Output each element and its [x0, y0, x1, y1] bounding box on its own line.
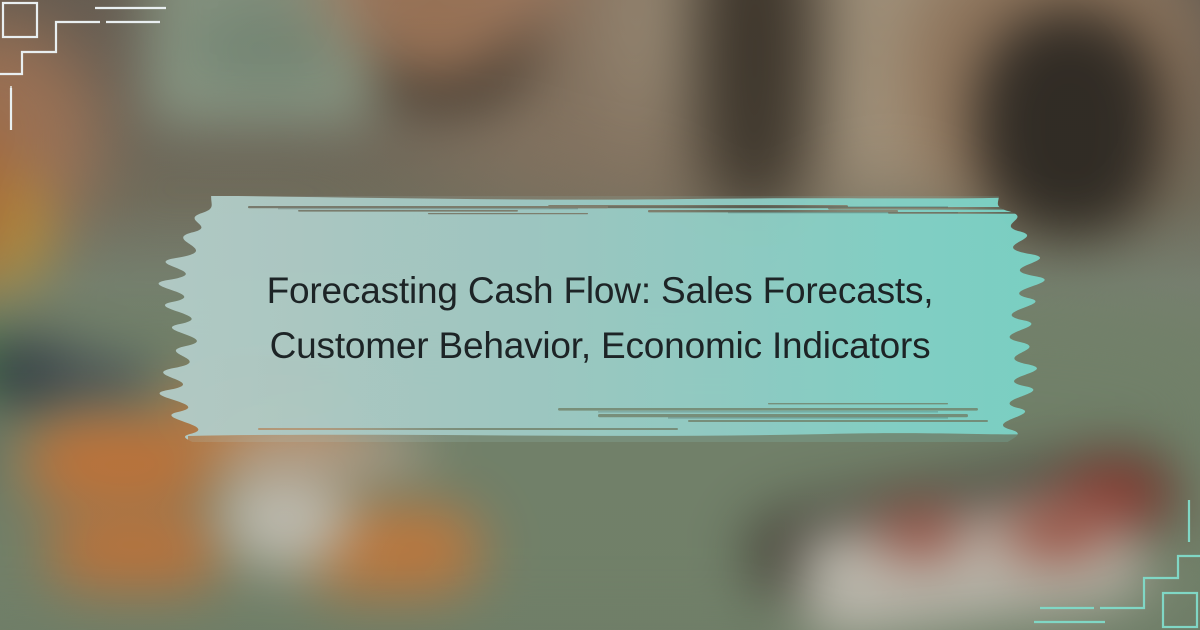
corner-ornament-top-left [0, 0, 170, 130]
title-line-1: Forecasting Cash Flow: Sales Forecasts, [267, 264, 934, 319]
title-line-2: Customer Behavior, Economic Indicators [270, 319, 931, 374]
social-card-canvas: Forecasting Cash Flow: Sales Forecasts, … [0, 0, 1200, 630]
page-title: Forecasting Cash Flow: Sales Forecasts, … [128, 196, 1072, 442]
corner-ornament-bottom-right [1030, 500, 1200, 630]
